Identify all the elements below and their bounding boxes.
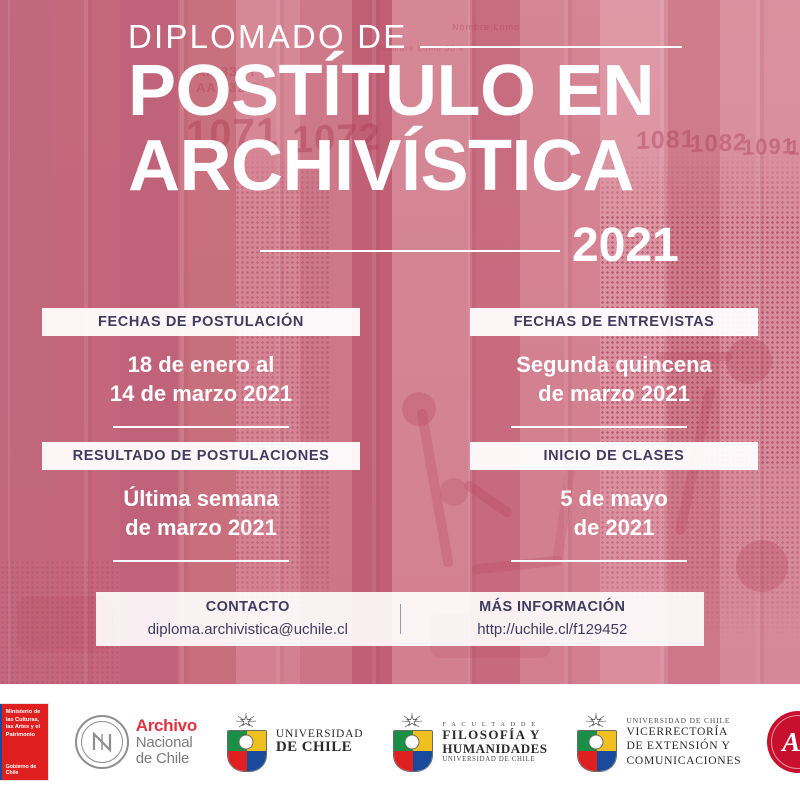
archivo-nacional-line-3: de Chile: [136, 751, 197, 767]
year-rule: [260, 250, 560, 252]
ministerio-flag-block: Ministerio de las Culturas, las Artes y …: [0, 703, 49, 781]
ministerio-line-4: Patrimonio: [6, 732, 35, 738]
uchile-coat-of-arms-icon: [573, 713, 619, 771]
shield-center-boss: [589, 735, 604, 750]
facultad-name: F A C U L T A D D E FILOSOFÍA Y HUMANIDA…: [442, 721, 547, 763]
shield-quadrant-4: [597, 751, 616, 771]
poster-canvas: AA 331 f AA 332 D Nombre Lomo Nombre Lom…: [0, 0, 800, 800]
shield-quadrant-4: [413, 751, 432, 771]
info-value-line-2: de marzo 2021: [42, 513, 360, 542]
seal-ring: [771, 715, 800, 769]
info-block-postulacion: FECHAS DE POSTULACIÓN 18 de enero al 14 …: [42, 308, 360, 428]
logo-archivo-nacional: Archivo Nacional de Chile: [75, 715, 197, 769]
contact-right: MÁS INFORMACIÓN http://uchile.cl/f129452: [401, 598, 705, 639]
shield-quadrant-4: [247, 751, 266, 771]
vicerrectoria-line-3: COMUNICACIONES: [626, 754, 741, 768]
vicerrectoria-line-2: DE EXTENSIÓN Y: [626, 739, 741, 753]
logo-archivo-central-andres-bello: AB: [767, 711, 800, 773]
facultad-line-1: FILOSOFÍA Y: [442, 728, 547, 742]
shield-quadrant-3: [394, 751, 413, 771]
info-block-rule: [511, 426, 687, 428]
status-badge: FECHAS DE POSTULACIÓN: [42, 308, 360, 336]
info-value-line-2: de marzo 2021: [470, 379, 758, 408]
archivo-nacional-monogram-icon: [75, 715, 129, 769]
status-badge: INICIO DE CLASES: [470, 442, 758, 470]
archivo-nacional-name: Archivo Nacional de Chile: [136, 717, 197, 766]
info-block-inicio-clases: INICIO DE CLASES 5 de mayo de 2021: [440, 442, 758, 562]
page-title-line-2: ARCHIVÍSTICA: [128, 133, 634, 199]
more-info-label: MÁS INFORMACIÓN: [401, 598, 705, 617]
poster-year: 2021: [572, 222, 679, 270]
logo-vicerrectoria-extension: UNIVERSIDAD DE CHILE VICERRECTORÍA DE EX…: [573, 713, 741, 771]
ministerio-footer: Gobierno de Chile: [6, 764, 48, 776]
shield-center-boss: [405, 735, 420, 750]
info-value-line-1: 18 de enero al: [42, 350, 360, 379]
poster-kicker: DIPLOMADO DE: [128, 20, 407, 53]
info-value-line-2: 14 de marzo 2021: [42, 379, 360, 408]
logo-ministerio-culturas: Ministerio de las Culturas, las Artes y …: [0, 703, 49, 781]
info-block-value: 18 de enero al 14 de marzo 2021: [42, 350, 360, 408]
status-badge: FECHAS DE ENTREVISTAS: [470, 308, 758, 336]
info-block-rule: [511, 560, 687, 562]
info-block-value: Última semana de marzo 2021: [42, 484, 360, 542]
info-block-resultado: RESULTADO DE POSTULACIONES Última semana…: [42, 442, 360, 562]
shield-quadrant-3: [578, 751, 597, 771]
info-block-rule: [113, 560, 289, 562]
ministerio-line-2: las Culturas,: [6, 717, 40, 723]
vicerrectoria-name: UNIVERSIDAD DE CHILE VICERRECTORÍA DE EX…: [626, 716, 741, 767]
andres-bello-seal-icon: AB: [767, 711, 800, 773]
info-block-value: Segunda quincena de marzo 2021: [470, 350, 758, 408]
contact-email[interactable]: diploma.archivistica@uchile.cl: [96, 620, 400, 640]
contact-panel: CONTACTO diploma.archivistica@uchile.cl …: [96, 592, 704, 646]
vicerrectoria-kicker: UNIVERSIDAD DE CHILE: [626, 716, 741, 725]
status-badge: RESULTADO DE POSTULACIONES: [42, 442, 360, 470]
logo-strip: Ministerio de las Culturas, las Artes y …: [0, 684, 800, 800]
uchile-name: UNIVERSIDAD DE CHILE: [276, 728, 363, 756]
page-title-line-1: POSTÍTULO EN: [128, 58, 654, 124]
ministerio-line-1: Ministerio de: [6, 709, 41, 715]
logo-facultad-filosofia-humanidades: F A C U L T A D D E FILOSOFÍA Y HUMANIDA…: [389, 713, 547, 771]
info-value-line-1: 5 de mayo: [470, 484, 758, 513]
info-block-rule: [113, 426, 289, 428]
contact-left: CONTACTO diploma.archivistica@uchile.cl: [96, 598, 400, 639]
facultad-footer: UNIVERSIDAD DE CHILE: [442, 756, 547, 763]
uchile-coat-of-arms-icon: [389, 713, 435, 771]
info-value-line-2: de 2021: [470, 513, 758, 542]
ministerio-name-block: Ministerio de las Culturas, las Artes y …: [2, 704, 48, 780]
info-value-line-1: Última semana: [42, 484, 360, 513]
archivo-nacional-line-1: Archivo: [136, 717, 197, 734]
uchile-line-2: DE CHILE: [276, 740, 363, 756]
archivo-nacional-line-2: Nacional: [136, 735, 197, 751]
logo-universidad-de-chile: UNIVERSIDAD DE CHILE: [223, 713, 363, 771]
info-block-entrevistas: FECHAS DE ENTREVISTAS Segunda quincena d…: [440, 308, 758, 428]
vicerrectoria-line-1: VICERRECTORÍA: [626, 725, 741, 739]
info-block-value: 5 de mayo de 2021: [470, 484, 758, 542]
kicker-rule: [420, 46, 682, 48]
info-value-line-1: Segunda quincena: [470, 350, 758, 379]
more-info-url[interactable]: http://uchile.cl/f129452: [401, 620, 705, 640]
shield-quadrant-3: [228, 751, 247, 771]
shield-center-boss: [238, 735, 253, 750]
ministerio-name: Ministerio de las Culturas, las Artes y …: [6, 709, 46, 739]
contact-label: CONTACTO: [96, 598, 400, 617]
uchile-coat-of-arms-icon: [223, 713, 269, 771]
ministerio-line-3: las Artes y el: [6, 724, 40, 730]
facultad-line-2: HUMANIDADES: [442, 742, 547, 756]
